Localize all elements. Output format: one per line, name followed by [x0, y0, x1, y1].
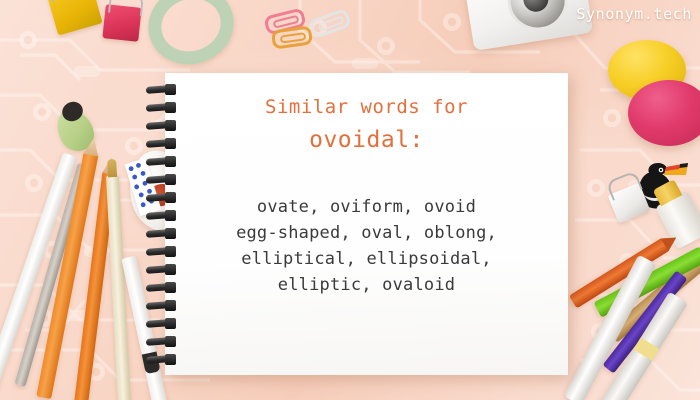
heading-prefix: Similar words for [265, 95, 468, 121]
desk-scene: Similar words for ovoidal: ovate, ovifor… [0, 0, 700, 400]
synonym-list: ovate, oviform, ovoid egg-shaped, oval, … [236, 194, 497, 298]
camera-icon [463, 0, 593, 51]
paper-clip-white-icon [308, 8, 352, 40]
synonym-line: egg-shaped, oval, oblong, [236, 220, 497, 246]
query-word: ovoidal: [309, 124, 424, 156]
notepad: Similar words for ovoidal: ovate, ovifor… [165, 73, 568, 375]
site-logo[interactable]: Synonym.tech [576, 5, 692, 23]
washi-tape-roll-icon [138, 0, 244, 75]
synonym-line: elliptic, ovaloid [236, 272, 497, 298]
paper-clip-orange-icon [271, 25, 313, 49]
camera-lens-icon [503, 0, 572, 35]
marker-band [633, 337, 659, 361]
synonym-line: elliptical, ellipsoidal, [236, 246, 497, 272]
binder-clip-yellow-icon [47, 0, 102, 36]
binder-clip-pink-icon [102, 4, 141, 42]
synonym-line: ovate, oviform, ovoid [236, 194, 497, 220]
notepad-content: Similar words for ovoidal: ovate, ovifor… [165, 73, 568, 375]
macaron-pink-icon [628, 80, 700, 146]
